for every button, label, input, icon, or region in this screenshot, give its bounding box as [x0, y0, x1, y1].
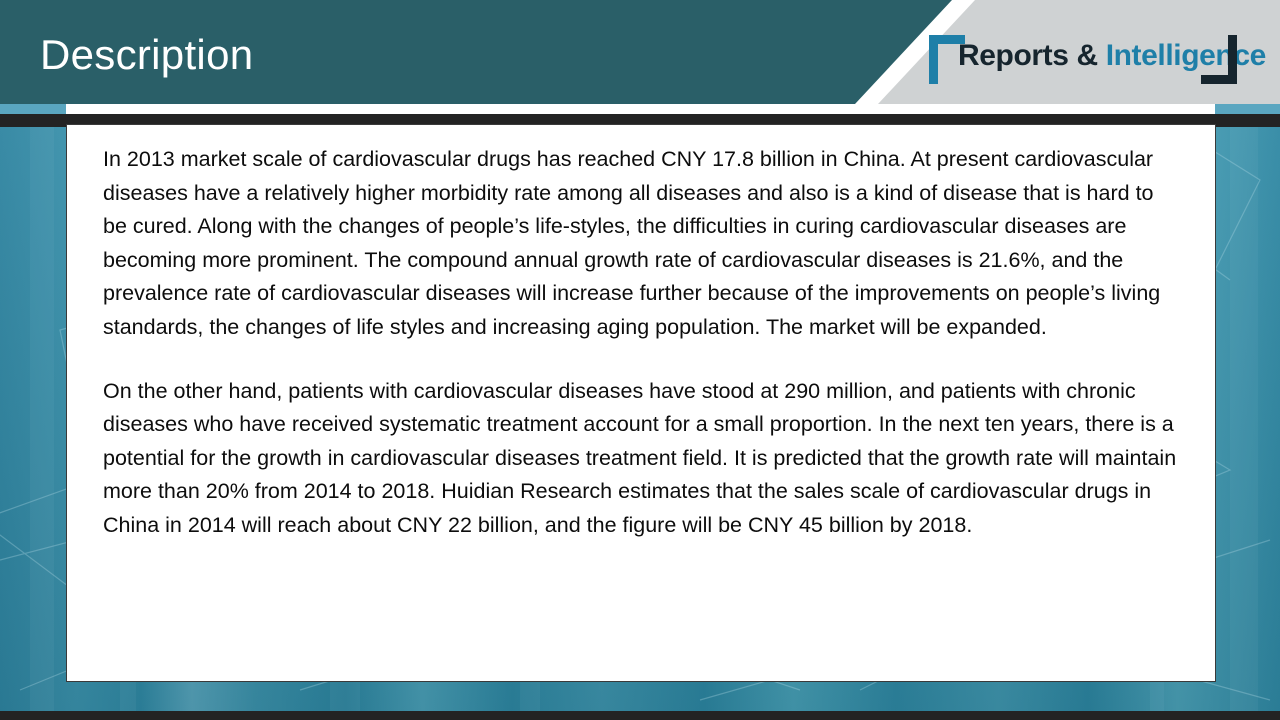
page-title: Description [40, 30, 253, 80]
content-card: In 2013 market scale of cardiovascular d… [66, 124, 1216, 682]
brand-logo: Reports & Intelligence [925, 31, 1255, 85]
footer-dark-bar [0, 711, 1280, 720]
slide-canvas: Description Reports & Intelligence In 20… [0, 0, 1280, 720]
header-light-strip [0, 104, 1280, 114]
slide-header: Description Reports & Intelligence [0, 0, 1280, 104]
logo-text-reports: Reports & [958, 39, 1106, 72]
description-paragraph-1: In 2013 market scale of cardiovascular d… [103, 143, 1181, 345]
content-body: In 2013 market scale of cardiovascular d… [67, 125, 1215, 553]
description-paragraph-2: On the other hand, patients with cardiov… [103, 375, 1181, 543]
logo-bracket-right-icon [1201, 35, 1237, 84]
accent-chip-left [0, 104, 66, 114]
accent-chip-right [1215, 104, 1280, 114]
logo-text-intelligence: Intelligence [1106, 39, 1266, 72]
